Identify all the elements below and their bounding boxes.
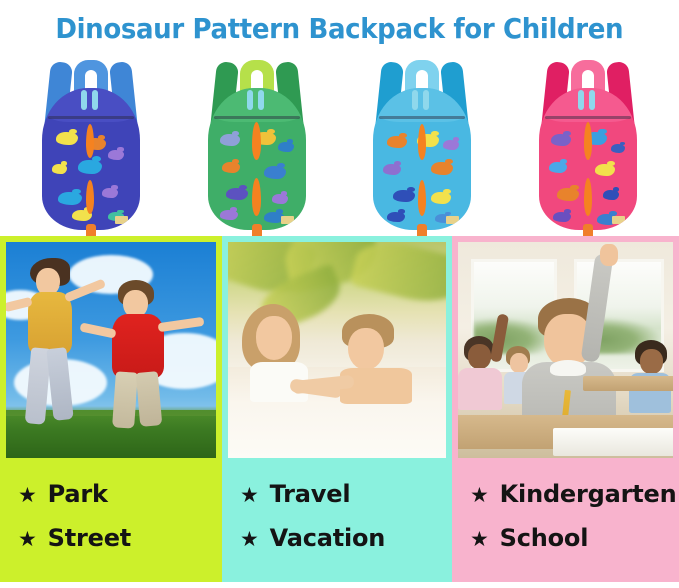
- label-item: ★ Vacation: [240, 524, 452, 552]
- label-text: Park: [48, 480, 108, 508]
- face: [348, 328, 384, 370]
- shirt-yellow: [28, 292, 72, 354]
- product-green-dinosaur-backpack[interactable]: [182, 54, 332, 236]
- brand-tag: [446, 216, 459, 224]
- dino-motif: [108, 150, 124, 160]
- zipper-line: [545, 116, 631, 119]
- product-pink-dinosaur-backpack[interactable]: [513, 54, 663, 236]
- dino-motif: [58, 192, 82, 205]
- open-book: [553, 428, 673, 456]
- feather-motif: [418, 180, 426, 216]
- dino-motif: [387, 212, 405, 222]
- title-bar: Dinosaur Pattern Backpack for Children: [0, 0, 679, 50]
- zipper-pull[interactable]: [81, 90, 87, 110]
- dino-motif: [603, 190, 619, 200]
- face: [468, 344, 491, 369]
- dino-motif: [393, 190, 415, 202]
- shirt: [458, 368, 502, 410]
- label-item: ★ Kindergarten: [470, 480, 679, 508]
- dino-motif: [278, 142, 294, 152]
- label-text: Vacation: [270, 524, 386, 552]
- dino-motif: [226, 188, 248, 200]
- backpack-illustration: [205, 60, 309, 236]
- dino-motif: [220, 134, 240, 146]
- dino-motif: [431, 162, 453, 175]
- face: [640, 349, 663, 374]
- photo-classroom: [458, 242, 673, 458]
- zipper-pull[interactable]: [92, 90, 98, 110]
- dino-motif: [272, 194, 288, 204]
- brand-tag: [612, 216, 625, 224]
- dino-motif: [551, 134, 571, 146]
- face: [256, 316, 292, 360]
- dino-motif: [387, 136, 407, 148]
- feather-motif: [86, 124, 94, 158]
- backpack-body: [539, 88, 637, 230]
- zipper-pull[interactable]: [578, 90, 584, 110]
- dino-motif: [220, 210, 238, 220]
- backpack-body: [373, 88, 471, 230]
- label-text: Kindergarten: [500, 480, 677, 508]
- dino-motif: [595, 164, 615, 176]
- use-case-panels: ★ Park ★ Street: [0, 236, 679, 582]
- dino-motif: [52, 164, 67, 174]
- zipper-line: [214, 116, 300, 119]
- label-item: ★ Travel: [240, 480, 452, 508]
- brand-tag: [115, 216, 128, 224]
- dino-motif: [102, 188, 118, 198]
- label-item: ★ Street: [18, 524, 222, 552]
- star-icon: ★: [18, 485, 37, 506]
- photo-kids-running: [6, 242, 216, 458]
- zipper-line: [379, 116, 465, 119]
- feather-motif: [252, 178, 261, 216]
- label-item: ★ School: [470, 524, 679, 552]
- star-icon: ★: [18, 529, 37, 550]
- dino-motif: [264, 166, 286, 179]
- dino-motif: [383, 164, 401, 175]
- dino-motif: [549, 162, 567, 173]
- product-blue-dinosaur-backpack[interactable]: [16, 54, 166, 236]
- feather-motif: [86, 180, 94, 214]
- dino-motif: [78, 160, 102, 174]
- label-list-park: ★ Park ★ Street: [0, 464, 222, 582]
- leg: [136, 371, 163, 427]
- backpack-showcase-row: [0, 50, 679, 240]
- feather-motif: [584, 122, 592, 160]
- label-list-travel: ★ Travel ★ Vacation: [222, 464, 452, 582]
- backpack-body: [208, 88, 306, 230]
- label-text: Travel: [270, 480, 351, 508]
- zipper-pull[interactable]: [247, 90, 253, 110]
- label-text: School: [500, 524, 589, 552]
- star-icon: ★: [240, 485, 259, 506]
- dino-motif: [56, 132, 78, 145]
- product-infographic: Dinosaur Pattern Backpack for Children: [0, 0, 679, 588]
- dino-motif: [611, 144, 625, 153]
- dino-motif: [553, 212, 571, 222]
- panel-park: ★ Park ★ Street: [0, 236, 222, 582]
- product-light-blue-dinosaur-backpack[interactable]: [347, 54, 497, 236]
- label-text: Street: [48, 524, 131, 552]
- backpack-body: [42, 88, 140, 230]
- leg: [112, 371, 138, 428]
- photo-kids-beach: [228, 242, 446, 458]
- feather-motif: [584, 178, 592, 216]
- label-list-school: ★ Kindergarten ★ School: [452, 464, 679, 582]
- star-icon: ★: [470, 529, 489, 550]
- backpack-illustration: [39, 60, 143, 236]
- zipper-pull[interactable]: [423, 90, 429, 110]
- label-item: ★ Park: [18, 480, 222, 508]
- feather-motif: [418, 124, 426, 160]
- dino-motif: [557, 188, 579, 201]
- zipper-pull[interactable]: [258, 90, 264, 110]
- page-title: Dinosaur Pattern Backpack for Children: [56, 12, 624, 45]
- zipper-pull[interactable]: [589, 90, 595, 110]
- feather-motif: [252, 122, 261, 160]
- dino-motif: [431, 192, 451, 204]
- shirt-red: [112, 314, 164, 378]
- desk-background: [583, 376, 673, 391]
- panel-travel: ★ Travel ★ Vacation: [222, 236, 452, 582]
- photo-frame-park: [0, 236, 222, 464]
- collar: [550, 360, 586, 376]
- dino-motif: [443, 140, 459, 150]
- brand-tag: [281, 216, 294, 224]
- hand: [600, 244, 618, 266]
- dino-motif: [222, 162, 240, 173]
- panel-school: ★ Kindergarten ★ School: [452, 236, 679, 582]
- zipper-line: [48, 116, 134, 119]
- star-icon: ★: [470, 485, 489, 506]
- star-icon: ★: [240, 529, 259, 550]
- photo-frame-school: [452, 236, 679, 464]
- backpack-illustration: [536, 60, 640, 236]
- backpack-illustration: [370, 60, 474, 236]
- photo-frame-travel: [222, 236, 452, 464]
- zipper-pull[interactable]: [412, 90, 418, 110]
